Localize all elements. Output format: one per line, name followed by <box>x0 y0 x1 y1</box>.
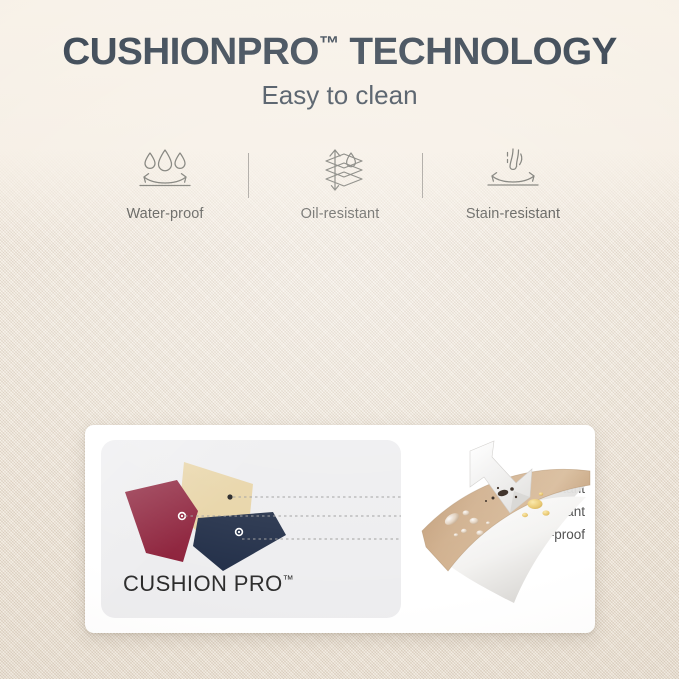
feature-divider-1 <box>248 153 249 198</box>
feature-label: Oil-resistant <box>260 206 420 222</box>
cushion-illustration <box>410 431 595 627</box>
brand-trademark-icon: ™ <box>283 574 294 586</box>
feature-water-proof: Water-proof <box>85 140 245 222</box>
title-trademark-icon: ™ <box>319 33 339 55</box>
page-subtitle: Easy to clean <box>0 80 679 111</box>
feature-stain-resistant: Stain-resistant <box>433 140 593 222</box>
title-suffix: TECHNOLOGY <box>339 31 617 73</box>
maroon-marker-core <box>181 515 183 517</box>
brand-text: CUSHION PRO <box>123 571 283 596</box>
tan-marker-dot <box>227 494 232 499</box>
feature-label: Water-proof <box>85 206 245 222</box>
stain-swirl-repel-icon <box>433 140 593 196</box>
brand-wordmark: CUSHION PRO™ <box>123 571 393 597</box>
layered-sheets-arrow-droplet-icon <box>260 140 420 196</box>
feature-divider-2 <box>422 153 423 198</box>
diagram-panel: CUSHION PRO™ <box>101 440 401 618</box>
water-droplets-repel-icon <box>85 140 245 196</box>
feature-label: Stain-resistant <box>433 206 593 222</box>
page-title: CUSHIONPRO™ TECHNOLOGY <box>0 31 679 74</box>
navy-marker-core <box>238 531 240 533</box>
navy-polygon <box>193 512 286 571</box>
product-feature-graphic: CUSHIONPRO™ TECHNOLOGY Easy to clean Wat… <box>0 0 679 679</box>
cushion-pro-card: CUSHION PRO™ Stain-resistant Oil-resista… <box>85 425 595 633</box>
title-text: CUSHIONPRO <box>62 31 319 73</box>
feature-row: Water-proof Oil-resistant <box>70 140 610 228</box>
feature-oil-resistant: Oil-resistant <box>260 140 420 222</box>
